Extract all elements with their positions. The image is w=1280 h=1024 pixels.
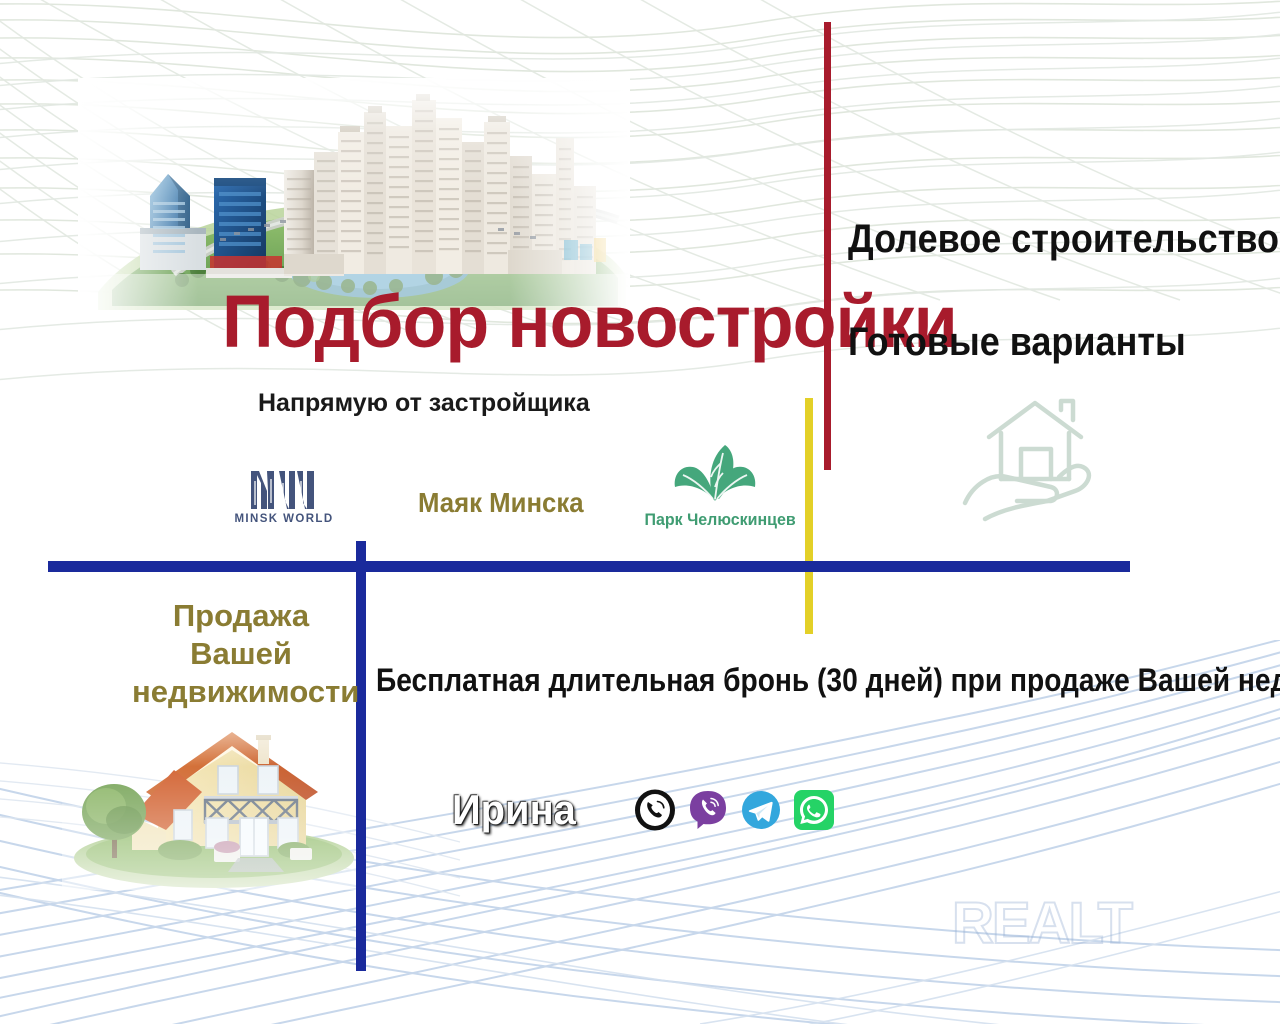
phone-icon[interactable] xyxy=(634,789,676,831)
offer-line-ready-options: Готовые варианты xyxy=(848,320,1186,365)
page-subtitle: Напрямую от застройщика xyxy=(258,388,590,418)
sell-property-heading: Продажа Вашей недвижимости xyxy=(132,597,350,711)
contact-icons-group xyxy=(634,789,835,831)
sell-property-line2: недвижимости xyxy=(132,673,350,711)
whatsapp-icon[interactable] xyxy=(793,789,835,831)
partner-caption-minsk-world: MINSK WORLD xyxy=(228,513,340,525)
partner-logo-park-chelyuskintsev: Парк Челюскинцев xyxy=(640,443,790,543)
aerial-city-photo xyxy=(78,78,630,310)
sell-property-line1: Продажа Вашей xyxy=(132,597,350,673)
divider-red-vertical xyxy=(824,22,831,470)
offer-line-shared-construction: Долевое строительство xyxy=(848,217,1279,262)
divider-yellow-vertical xyxy=(805,398,813,634)
partner-logo-mayak-minska: Маяк Минска xyxy=(418,487,584,519)
mw-monogram-icon xyxy=(247,467,321,511)
page-title: Подбор новостройки xyxy=(222,283,957,361)
advertisement-banner: Подбор новостройки Напрямую от застройщи… xyxy=(0,0,1280,1024)
viber-icon[interactable] xyxy=(687,789,729,831)
promo-offer-text: Бесплатная длительная бронь (30 дней) пр… xyxy=(376,662,1280,699)
house-in-hand-icon xyxy=(955,393,1115,533)
partner-caption-park-chelyuskintsev: Парк Челюскинцев xyxy=(645,510,786,530)
telegram-icon[interactable] xyxy=(740,789,782,831)
divider-blue-horizontal xyxy=(48,561,1130,572)
agent-name: Ирина xyxy=(452,786,576,834)
cottage-house-photo xyxy=(62,700,360,890)
divider-blue-vertical xyxy=(356,541,366,971)
partner-logo-minsk-world: MINSK WORLD xyxy=(228,467,340,539)
realt-watermark: REALT xyxy=(952,890,1131,957)
leaf-book-icon xyxy=(663,443,767,509)
